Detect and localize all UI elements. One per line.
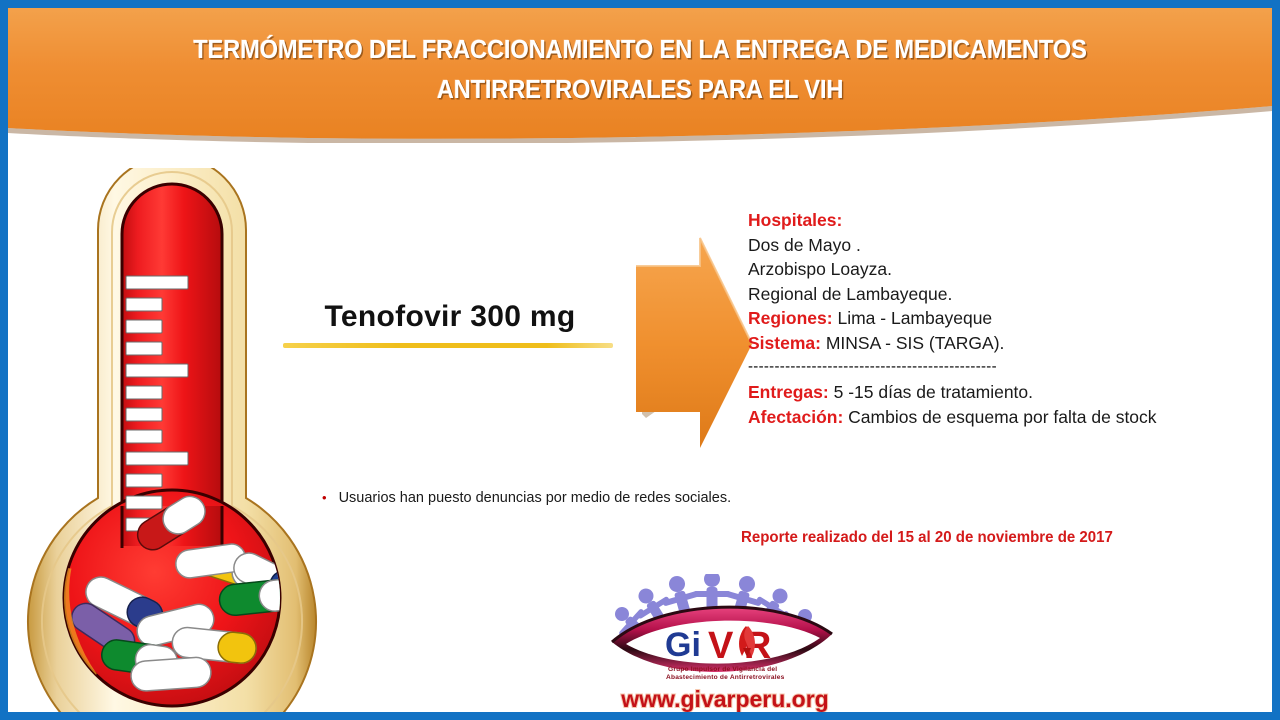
entregas-label: Entregas: <box>748 382 829 402</box>
banner-title-line2: ANTIRRETROVIRALES PARA EL VIH <box>52 70 1228 110</box>
entregas-value: 5 -15 días de tratamiento. <box>834 382 1033 402</box>
afectacion-value: Cambios de esquema por falta de stock <box>848 407 1156 427</box>
info-block: Hospitales: Dos de Mayo . Arzobispo Loay… <box>748 208 1264 429</box>
afectacion-row: Afectación: Cambios de esquema por falta… <box>748 405 1264 430</box>
banner-title: TERMÓMETRO DEL FRACCIONAMIENTO EN LA ENT… <box>52 30 1228 110</box>
regiones-row: Regiones: Lima - Lambayeque <box>748 306 1264 331</box>
sistema-row: Sistema: MINSA - SIS (TARGA). <box>748 331 1264 356</box>
hospital-item: Dos de Mayo . <box>748 233 1264 258</box>
sistema-label: Sistema: <box>748 333 821 353</box>
hospitales-label-row: Hospitales: <box>748 208 1264 233</box>
drug-title-underline <box>283 343 613 348</box>
bullet-text: Usuarios han puesto denuncias por medio … <box>339 488 732 508</box>
logo-website-text: www.givarperu.org <box>620 686 828 712</box>
bullet-list-item: • Usuarios han puesto denuncias por medi… <box>322 488 962 508</box>
hospital-item: Regional de Lambayeque. <box>748 282 1264 307</box>
thermometer-graphic <box>22 168 322 712</box>
report-date: Reporte realizado del 15 al 20 de noviem… <box>741 529 1113 547</box>
sistema-value: MINSA - SIS (TARGA). <box>826 333 1005 353</box>
right-arrow-icon <box>628 236 758 456</box>
givar-text-gi: Gi <box>665 626 701 664</box>
givar-wordmark: Gi V R Grupo Impulsor de Vigilancia del … <box>665 625 785 681</box>
dashed-separator: ----------------------------------------… <box>748 356 1264 378</box>
entregas-row: Entregas: 5 -15 días de tratamiento. <box>748 380 1264 405</box>
header-banner: TERMÓMETRO DEL FRACCIONAMIENTO EN LA ENT… <box>8 8 1272 143</box>
drug-name-title: Tenofovir 300 mg <box>280 300 620 334</box>
bullet-marker-icon: • <box>322 488 327 508</box>
hospital-name-1: Dos de Mayo . <box>748 235 861 255</box>
slide-frame: TERMÓMETRO DEL FRACCIONAMIENTO EN LA ENT… <box>0 0 1280 720</box>
givar-logo-svg: Gi V R Grupo Impulsor de Vigilancia del … <box>570 574 880 712</box>
givar-logo[interactable]: Gi V R Grupo Impulsor de Vigilancia del … <box>570 574 880 712</box>
givar-tagline-1: Grupo Impulsor de Vigilancia del <box>668 666 777 673</box>
hospital-name-2: Arzobispo Loayza. <box>748 259 892 279</box>
regiones-label: Regiones: <box>748 308 833 328</box>
slide-canvas: TERMÓMETRO DEL FRACCIONAMIENTO EN LA ENT… <box>8 8 1272 712</box>
hospitales-label: Hospitales: <box>748 210 842 230</box>
pill <box>130 656 212 692</box>
afectacion-label: Afectación: <box>748 407 843 427</box>
banner-title-line1: TERMÓMETRO DEL FRACCIONAMIENTO EN LA ENT… <box>52 30 1228 70</box>
hospital-item: Arzobispo Loayza. <box>748 257 1264 282</box>
hospital-name-3: Regional de Lambayeque. <box>748 284 952 304</box>
arrow-svg <box>628 236 758 456</box>
thermometer-svg <box>22 168 322 712</box>
givar-tagline-2: Abastecimiento de Antirretrovirales <box>666 674 785 681</box>
regiones-value: Lima - Lambayeque <box>837 308 992 328</box>
